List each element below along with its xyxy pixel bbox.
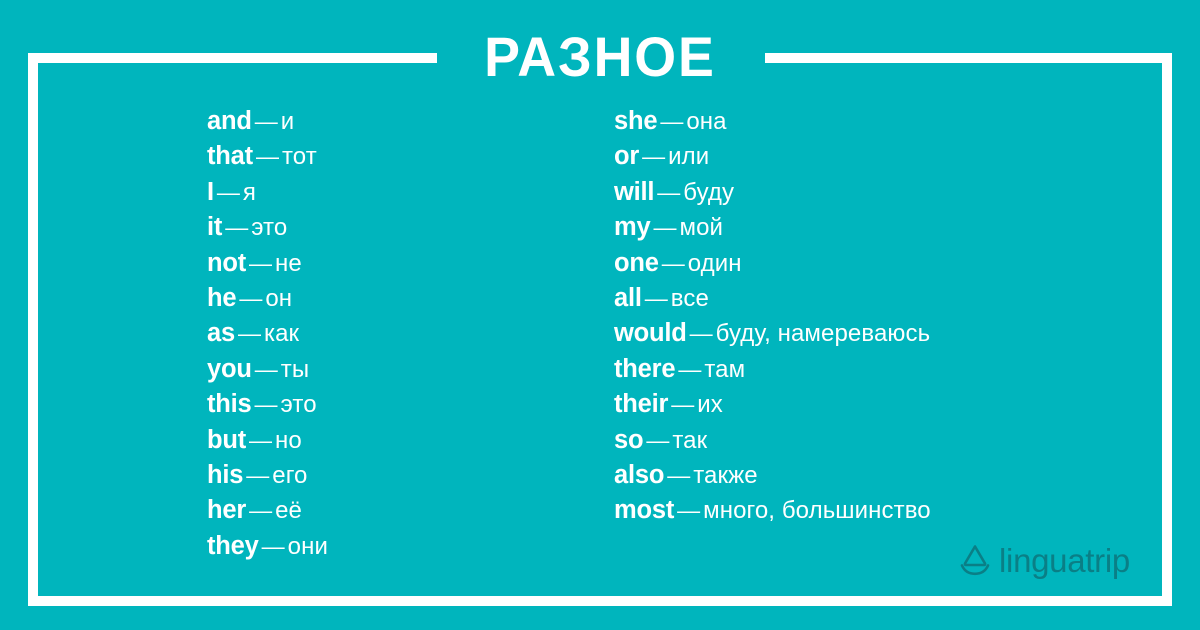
word-translation: буду, намереваюсь (716, 320, 931, 347)
word-term: I (207, 178, 214, 206)
word-translation: я (243, 179, 256, 206)
word-row: would—буду, намереваюсь (614, 316, 931, 351)
word-term: their (614, 390, 668, 418)
word-term: he (207, 284, 236, 312)
word-row: their—их (614, 387, 931, 422)
word-row: and—и (207, 104, 328, 139)
word-separator: — (668, 391, 697, 417)
word-term: most (614, 496, 674, 524)
word-term: but (207, 426, 246, 454)
word-separator: — (252, 391, 281, 417)
word-separator: — (657, 108, 686, 134)
word-term: or (614, 142, 639, 170)
word-term: will (614, 178, 654, 206)
word-separator: — (214, 179, 243, 205)
word-column-right: she—она or—или will—буду my—мой one—один… (614, 104, 931, 529)
page-title: РАЗНОЕ (24, 22, 1176, 92)
word-translation: это (281, 391, 317, 418)
word-row: most—много, большинство (614, 493, 931, 528)
word-separator: — (236, 285, 265, 311)
word-term: she (614, 107, 657, 135)
word-row: one—один (614, 246, 931, 281)
word-translation: также (693, 462, 757, 489)
word-row: but—но (207, 423, 328, 458)
word-translation: там (704, 356, 745, 383)
word-separator: — (659, 250, 688, 276)
word-separator: — (246, 497, 275, 523)
word-row: as—как (207, 316, 328, 351)
word-translation: её (275, 497, 302, 524)
word-separator: — (650, 214, 679, 240)
word-separator: — (243, 462, 272, 488)
word-row: there—там (614, 352, 931, 387)
word-row: he—он (207, 281, 328, 316)
word-separator: — (253, 143, 282, 169)
word-row: you—ты (207, 352, 328, 387)
word-term: her (207, 496, 246, 524)
word-separator: — (246, 250, 275, 276)
word-term: so (614, 426, 643, 454)
word-row: will—буду (614, 175, 931, 210)
word-translation: он (265, 285, 292, 312)
word-row: they—они (207, 529, 328, 564)
word-translation: их (697, 391, 723, 418)
word-term: you (207, 355, 252, 383)
word-row: she—она (614, 104, 931, 139)
word-translation: тот (282, 143, 317, 170)
word-translation: это (251, 214, 287, 241)
word-separator: — (654, 179, 683, 205)
word-separator: — (222, 214, 251, 240)
word-translation: так (672, 427, 707, 454)
word-translation: буду (683, 179, 734, 206)
word-translation: один (688, 250, 742, 277)
word-term: there (614, 355, 675, 383)
word-separator: — (687, 320, 716, 346)
word-translation: они (288, 533, 328, 560)
word-translation: ты (281, 356, 309, 383)
word-row: my—мой (614, 210, 931, 245)
word-translation: много, большинство (703, 497, 931, 524)
word-row: all—все (614, 281, 931, 316)
word-separator: — (664, 462, 693, 488)
word-term: it (207, 213, 222, 241)
word-row: it—это (207, 210, 328, 245)
word-translation: но (275, 427, 302, 454)
word-row: also—также (614, 458, 931, 493)
word-row: this—это (207, 387, 328, 422)
word-row: so—так (614, 423, 931, 458)
word-translation: как (264, 320, 299, 347)
word-term: his (207, 461, 243, 489)
word-translation: или (668, 143, 709, 170)
word-translation: мой (679, 214, 723, 241)
word-column-left: and—и that—тот I—я it—это not—не he—он a… (207, 104, 328, 564)
word-list: and—и that—тот I—я it—это not—не he—он a… (0, 104, 1200, 584)
word-row: I—я (207, 175, 328, 210)
word-separator: — (259, 533, 288, 559)
word-term: all (614, 284, 642, 312)
word-term: one (614, 249, 659, 277)
word-separator: — (642, 285, 671, 311)
word-translation: и (281, 108, 295, 135)
word-term: that (207, 142, 253, 170)
word-separator: — (639, 143, 668, 169)
word-separator: — (252, 108, 281, 134)
word-translation: она (686, 108, 726, 135)
word-row: or—или (614, 139, 931, 174)
word-translation: не (275, 250, 302, 277)
word-translation: все (671, 285, 709, 312)
word-separator: — (643, 427, 672, 453)
word-term: also (614, 461, 664, 489)
word-term: this (207, 390, 252, 418)
linguatrip-boat-icon (958, 543, 992, 577)
word-row: her—её (207, 493, 328, 528)
word-row: that—тот (207, 139, 328, 174)
linguatrip-logo: linguatrip (958, 540, 1130, 580)
word-separator: — (235, 320, 264, 346)
word-separator: — (246, 427, 275, 453)
word-term: my (614, 213, 650, 241)
word-separator: — (674, 497, 703, 523)
word-term: as (207, 319, 235, 347)
word-separator: — (252, 356, 281, 382)
frame-bottom-segment (28, 596, 1172, 606)
word-separator: — (675, 356, 704, 382)
logo-wordmark: linguatrip (999, 544, 1130, 577)
word-term: not (207, 249, 246, 277)
word-row: his—его (207, 458, 328, 493)
word-term: and (207, 107, 252, 135)
poster-canvas: РАЗНОЕ and—и that—тот I—я it—это not—не … (0, 0, 1200, 630)
word-term: they (207, 532, 259, 560)
word-translation: его (272, 462, 307, 489)
word-row: not—не (207, 246, 328, 281)
word-term: would (614, 319, 687, 347)
